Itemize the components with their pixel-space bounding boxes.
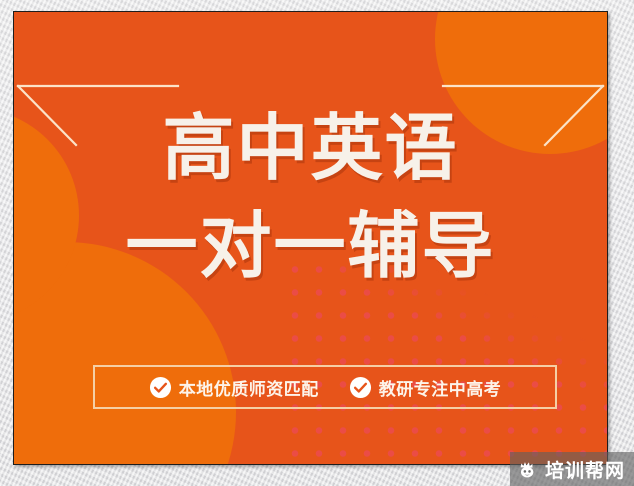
watermark-text: 培训帮网: [545, 456, 625, 483]
feature-label: 本地优质师资匹配: [179, 375, 319, 400]
page-title-secondary: 一对一辅导: [14, 208, 607, 284]
page-title-primary: 高中英语: [14, 110, 607, 186]
poster-canvas: 高中英语 一对一辅导 本地优质师资匹配 教研专注中高考: [0, 0, 634, 486]
poster-panel: 高中英语 一对一辅导 本地优质师资匹配 教研专注中高考: [13, 11, 608, 465]
feature-label: 教研专注中高考: [379, 375, 502, 400]
feature-item-exam-focus: 教研专注中高考: [349, 375, 502, 400]
check-circle-icon: [149, 376, 172, 399]
feature-badge-bar: 本地优质师资匹配 教研专注中高考: [93, 365, 557, 409]
feature-item-local-teachers: 本地优质师资匹配: [149, 375, 319, 400]
sun-face-icon: [517, 459, 538, 480]
watermark: 培训帮网: [510, 452, 634, 486]
check-circle-icon: [349, 376, 372, 399]
headline-block: 高中英语 一对一辅导: [14, 110, 607, 285]
